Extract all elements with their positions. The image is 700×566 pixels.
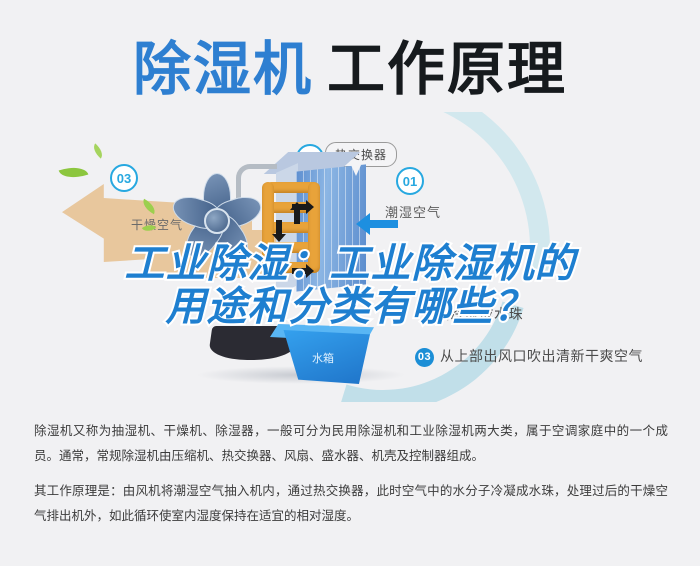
humid-air-label: 潮湿空气 [385, 202, 441, 221]
article-paragraph-1: 除湿机又称为抽湿机、干燥机、除湿器，一般可分为民用除湿机和工业除湿机两大类，属于… [34, 418, 668, 468]
page-title-primary: 除湿机 [133, 40, 313, 98]
step-02-caption: 器冷凝成水珠 [436, 304, 523, 324]
water-tank-label: 水箱 [312, 350, 334, 366]
badge-03: 03 [110, 164, 138, 192]
leaf-icon [90, 143, 106, 158]
fan-icon [160, 166, 270, 272]
page-title: 除湿机 工作原理 [0, 26, 700, 112]
step-03-caption: 03从上部出风口吹出清新干爽空气 [415, 346, 643, 367]
step-03-badge: 03 [415, 348, 434, 367]
leaf-icon [59, 162, 89, 183]
page-title-secondary: 工作原理 [327, 40, 567, 98]
compressor-coil-assembly [262, 174, 322, 292]
badge-01: 01 [396, 167, 424, 195]
working-principle-diagram: 干燥空气 03 02 01 热交换器 潮湿空气 [0, 112, 700, 402]
fan-hub [204, 208, 230, 234]
article-body: 除湿机又称为抽湿机、干燥机、除湿器，一般可分为民用除湿机和工业除湿机两大类，属于… [34, 418, 668, 528]
step-03-text: 从上部出风口吹出清新干爽空气 [440, 349, 643, 365]
page-root: 除湿机 工作原理 干燥空气 03 02 01 热交换器 潮湿空气 [0, 0, 700, 566]
article-paragraph-2: 其工作原理是：由风机将潮湿空气抽入机内，通过热交换器，此时空气中的水分子冷凝成水… [34, 478, 668, 528]
